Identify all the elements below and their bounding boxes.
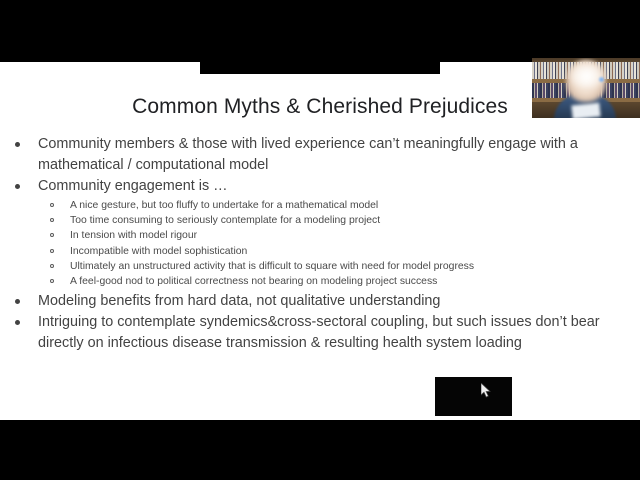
sub-bullet-text: A nice gesture, but too fluffy to undert… [70, 200, 378, 211]
bullet-dot-icon [15, 142, 20, 147]
sub-bullet-circle-icon [50, 203, 54, 207]
bullet-dot-icon [15, 320, 20, 325]
top-black-occluder [200, 62, 440, 74]
sub-bullet-item: A nice gesture, but too fluffy to undert… [0, 198, 640, 213]
bullet-item: Modeling benefits from hard data, not qu… [0, 291, 640, 312]
bullet-text: Community engagement is … [38, 178, 228, 194]
bullet-dot-icon [15, 184, 20, 189]
sub-bullet-text: A feel-good nod to political correctness… [70, 276, 437, 287]
sub-bullet-item: In tension with model rigour [0, 228, 640, 243]
slide-body-list: Community members & those with lived exp… [0, 134, 640, 354]
webcam-blue-highlight [598, 76, 605, 83]
sub-bullet-item: A feel-good nod to political correctness… [0, 274, 640, 289]
bullet-text: Modeling benefits from hard data, not qu… [38, 293, 440, 309]
sub-bullet-item: Too time consuming to seriously contempl… [0, 213, 640, 228]
mouse-pointer-icon [481, 383, 493, 399]
bullet-item: Community members & those with lived exp… [0, 134, 640, 176]
bullet-dot-icon [15, 299, 20, 304]
webcam-person-collar [571, 103, 600, 118]
bottom-black-occluder [435, 377, 512, 416]
sub-bullet-item: Ultimately an unstructured activity that… [0, 259, 640, 274]
bullet-item: Community engagement is … [0, 176, 640, 197]
bullet-text: Intriguing to contemplate syndemics&cros… [38, 314, 600, 351]
screen-root: Common Myths & Cherished Prejudices Comm… [0, 0, 640, 480]
sub-bullet-circle-icon [50, 233, 54, 237]
sub-bullet-list: A nice gesture, but too fluffy to undert… [0, 198, 640, 289]
sub-bullet-text: In tension with model rigour [70, 230, 197, 241]
sub-bullet-text: Too time consuming to seriously contempl… [70, 215, 380, 226]
speaker-webcam-thumbnail[interactable] [532, 58, 640, 118]
sub-bullet-circle-icon [50, 279, 54, 283]
bullet-item: Intriguing to contemplate syndemics&cros… [0, 312, 640, 354]
sub-bullet-item: Incompatible with model sophistication [0, 244, 640, 259]
bullet-text: Community members & those with lived exp… [38, 136, 578, 173]
sub-bullet-circle-icon [50, 249, 54, 253]
sub-bullet-circle-icon [50, 218, 54, 222]
sub-bullet-circle-icon [50, 264, 54, 268]
sub-bullet-text: Ultimately an unstructured activity that… [70, 261, 474, 272]
sub-bullet-text: Incompatible with model sophistication [70, 246, 247, 257]
